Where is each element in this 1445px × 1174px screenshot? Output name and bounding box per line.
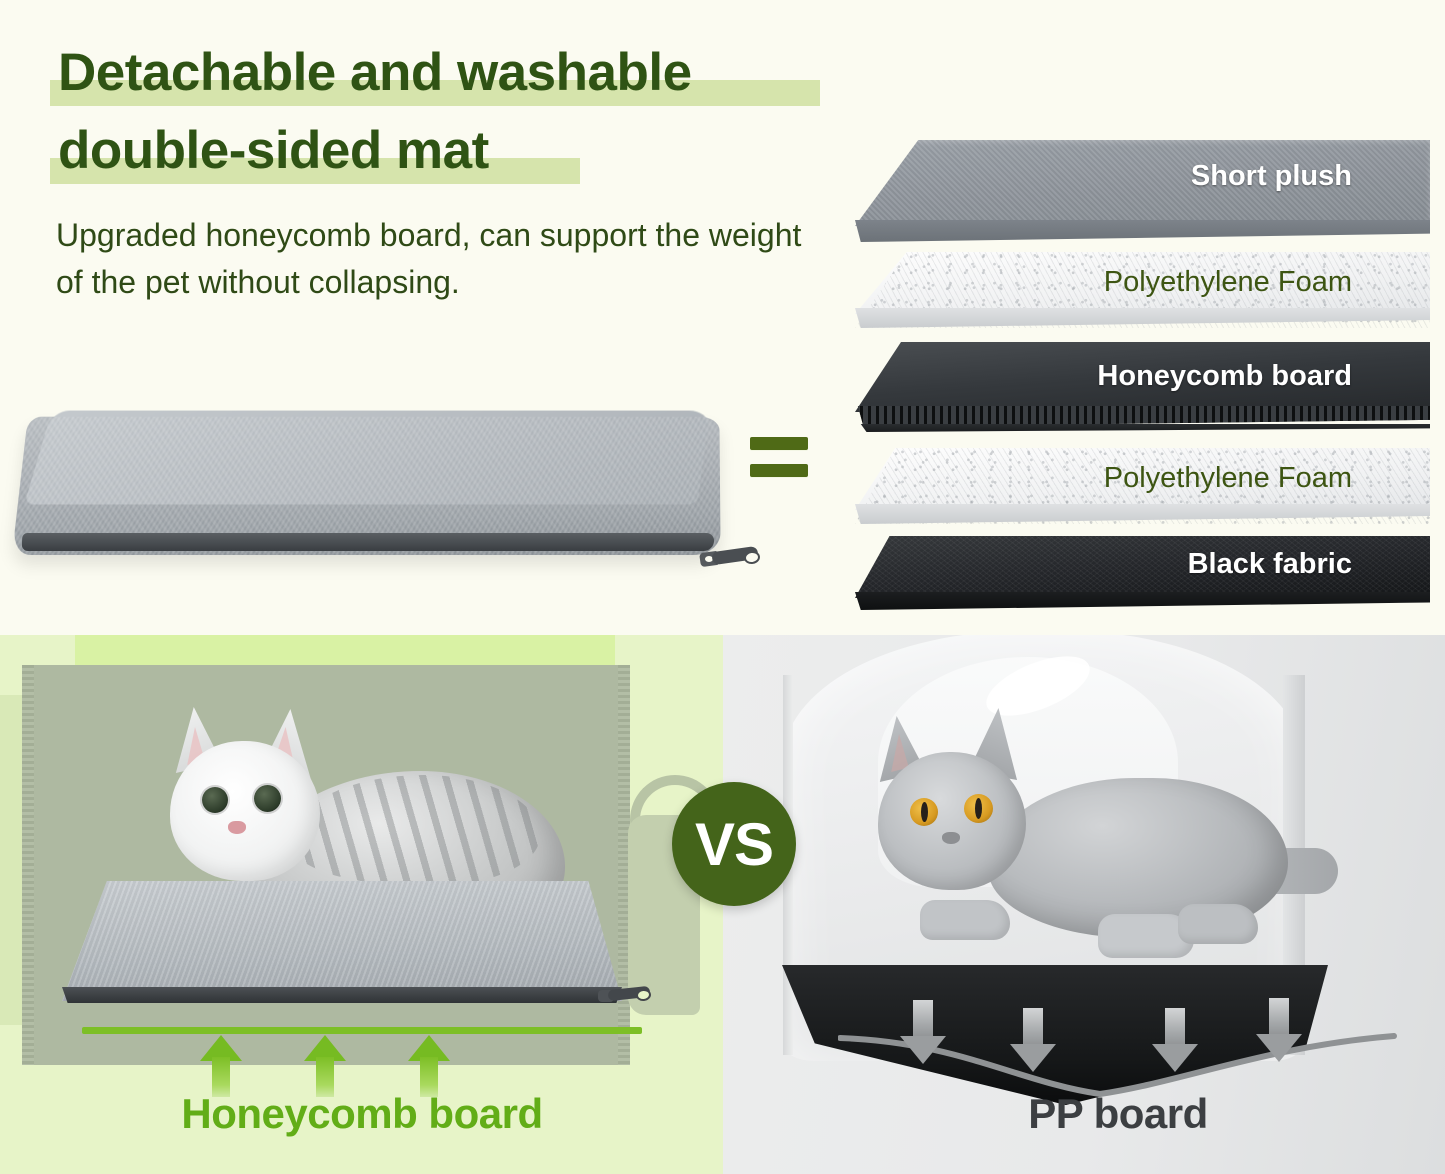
- infographic-page: Detachable and washable double-sided mat…: [0, 0, 1445, 1174]
- top-section: Detachable and washable double-sided mat…: [0, 0, 1445, 635]
- layer-3-honeycomb-cells: [855, 406, 1430, 427]
- down-arrow-icon-3: [1152, 1008, 1198, 1074]
- mat-bottom-edge: [22, 533, 715, 551]
- up-arrow-icon-2: [304, 1035, 346, 1097]
- cat1-nose: [228, 821, 246, 834]
- layer-5-label: Black fabric: [1188, 548, 1352, 581]
- subtitle-text: Upgraded honeycomb board, can support th…: [56, 212, 816, 306]
- headline-line-2: double-sided mat: [58, 112, 848, 190]
- down-arrow-head-2: [1010, 1044, 1056, 1072]
- layer-3-bottom: [855, 424, 1430, 432]
- layer-2-label: Polyethylene Foam: [1104, 266, 1352, 299]
- headline: Detachable and washable double-sided mat: [58, 34, 848, 190]
- zipper-pull-icon-2: [598, 983, 650, 1009]
- honeycomb-board-label: Honeycomb board: [82, 1090, 642, 1138]
- down-arrow-head-4: [1256, 1034, 1302, 1062]
- honeycomb-support-line: [82, 1027, 642, 1034]
- cat2-head: [878, 752, 1026, 890]
- down-arrow-shaft-1: [913, 1000, 933, 1040]
- equals-bar-top: [750, 437, 808, 450]
- down-arrow-shaft-2: [1023, 1008, 1043, 1048]
- zipper-pull-icon: [700, 543, 758, 573]
- down-arrow-icon-1: [900, 1000, 946, 1066]
- cat1-head: [170, 741, 320, 881]
- layer-5-edge: [855, 592, 1430, 610]
- layer-4-label: Polyethylene Foam: [1104, 462, 1352, 495]
- layer-3-label: Honeycomb board: [1097, 360, 1352, 393]
- down-arrow-head-3: [1152, 1044, 1198, 1072]
- down-arrow-head-1: [900, 1036, 946, 1064]
- headline-text-1: Detachable and washable: [58, 34, 848, 112]
- product-mat-image: [8, 405, 768, 595]
- layer-1-edge: [855, 220, 1430, 242]
- cat2-eye-right: [964, 794, 993, 823]
- layer-honeycomb-board: Honeycomb board: [855, 342, 1430, 454]
- layer-1-label: Short plush: [1191, 160, 1352, 193]
- cat2-hind-paw-right: [1178, 904, 1258, 944]
- headline-line-1: Detachable and washable: [58, 34, 848, 112]
- equals-icon: [750, 437, 808, 479]
- down-arrow-shaft-4: [1269, 998, 1289, 1038]
- layer-polyethylene-foam-bottom: Polyethylene Foam: [855, 448, 1430, 544]
- headline-text-2: double-sided mat: [58, 112, 848, 190]
- cat1-eye-left: [202, 787, 228, 813]
- cat2-nose: [942, 832, 960, 844]
- equals-bar-bottom: [750, 464, 808, 477]
- pp-board-label: PP board: [838, 1090, 1398, 1138]
- down-arrow-shaft-3: [1165, 1008, 1185, 1048]
- layer-black-fabric: Black fabric: [855, 536, 1430, 632]
- cat1-eye-right: [254, 785, 281, 812]
- layer-polyethylene-foam-top: Polyethylene Foam: [855, 252, 1430, 348]
- carrier-strap-left: [22, 665, 34, 1065]
- honeycomb-mat-edge: [62, 987, 622, 1003]
- up-arrow-icon-1: [200, 1035, 242, 1097]
- vs-label: VS: [695, 810, 773, 879]
- layer-stack-diagram: Short plush Polyethylene Foam Honeycomb …: [855, 140, 1430, 580]
- vs-badge: VS: [672, 782, 796, 906]
- down-arrow-icon-2: [1010, 1008, 1056, 1074]
- zipper-tab-hole-2: [635, 988, 651, 1002]
- down-arrow-icon-4: [1256, 998, 1302, 1064]
- cat2-eye-left: [910, 798, 938, 826]
- layer-short-plush: Short plush: [855, 140, 1430, 258]
- up-arrow-icon-3: [408, 1035, 450, 1097]
- cat2-front-paw: [920, 900, 1010, 940]
- gray-shorthair-cat: [868, 718, 1338, 988]
- honeycomb-mat-texture: [62, 881, 622, 1001]
